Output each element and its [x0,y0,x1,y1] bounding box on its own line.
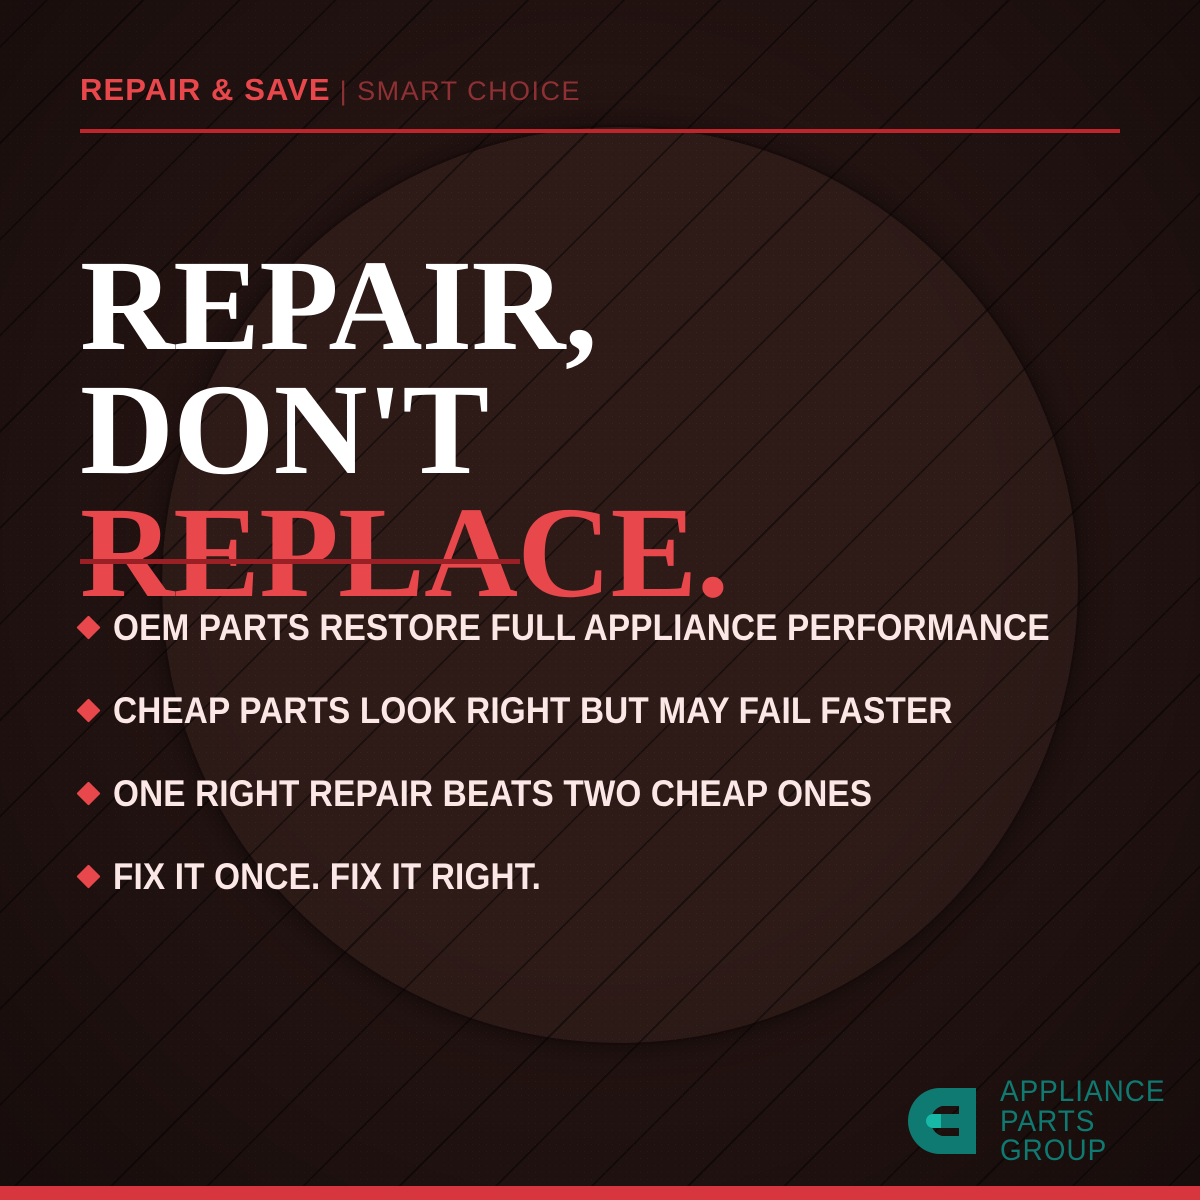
promo-poster: REPAIR & SAVE | SMART CHOICE REPAIR, DON… [0,0,1200,1200]
brand-logo: APPLIANCE PARTS GROUP [902,1077,1178,1166]
list-item: ONE RIGHT REPAIR BEATS TWO CHEAP ONES [80,752,1150,835]
diamond-bullet-icon [76,781,100,805]
g-monogram-icon [902,1078,986,1164]
benefit-list: OEM PARTS RESTORE FULL APPLIANCE PERFORM… [80,586,1150,918]
brand-logo-line-1: APPLIANCE [1000,1077,1165,1107]
brand-logo-wordmark: APPLIANCE PARTS GROUP [1000,1077,1178,1166]
brand-logo-line-2: PARTS [1000,1107,1165,1137]
list-item-label: ONE RIGHT REPAIR BEATS TWO CHEAP ONES [113,773,872,815]
headline-line-1: REPAIR, [80,245,728,369]
diamond-bullet-icon [76,615,100,639]
list-item-label: FIX IT ONCE. FIX IT RIGHT. [113,856,541,898]
poster-content: REPAIR & SAVE | SMART CHOICE REPAIR, DON… [0,0,1200,1200]
headline-line-2: DON'T [80,369,728,493]
eyebrow-main-label: REPAIR & SAVE [80,72,331,108]
brand-logo-line-3: GROUP [1000,1136,1165,1166]
header-divider [80,129,1120,133]
list-item: OEM PARTS RESTORE FULL APPLIANCE PERFORM… [80,586,1150,669]
list-item: CHEAP PARTS LOOK RIGHT BUT MAY FAIL FAST… [80,669,1150,752]
eyebrow-sub-label: | SMART CHOICE [340,76,581,107]
diamond-bullet-icon [76,698,100,722]
headline-underline-divider [80,559,520,564]
list-item-label: CHEAP PARTS LOOK RIGHT BUT MAY FAIL FAST… [113,690,953,732]
list-item-label: OEM PARTS RESTORE FULL APPLIANCE PERFORM… [113,607,1050,649]
bottom-accent-bar [0,1186,1200,1200]
diamond-bullet-icon [76,864,100,888]
eyebrow: REPAIR & SAVE | SMART CHOICE [80,72,581,108]
list-item: FIX IT ONCE. FIX IT RIGHT. [80,835,1150,918]
